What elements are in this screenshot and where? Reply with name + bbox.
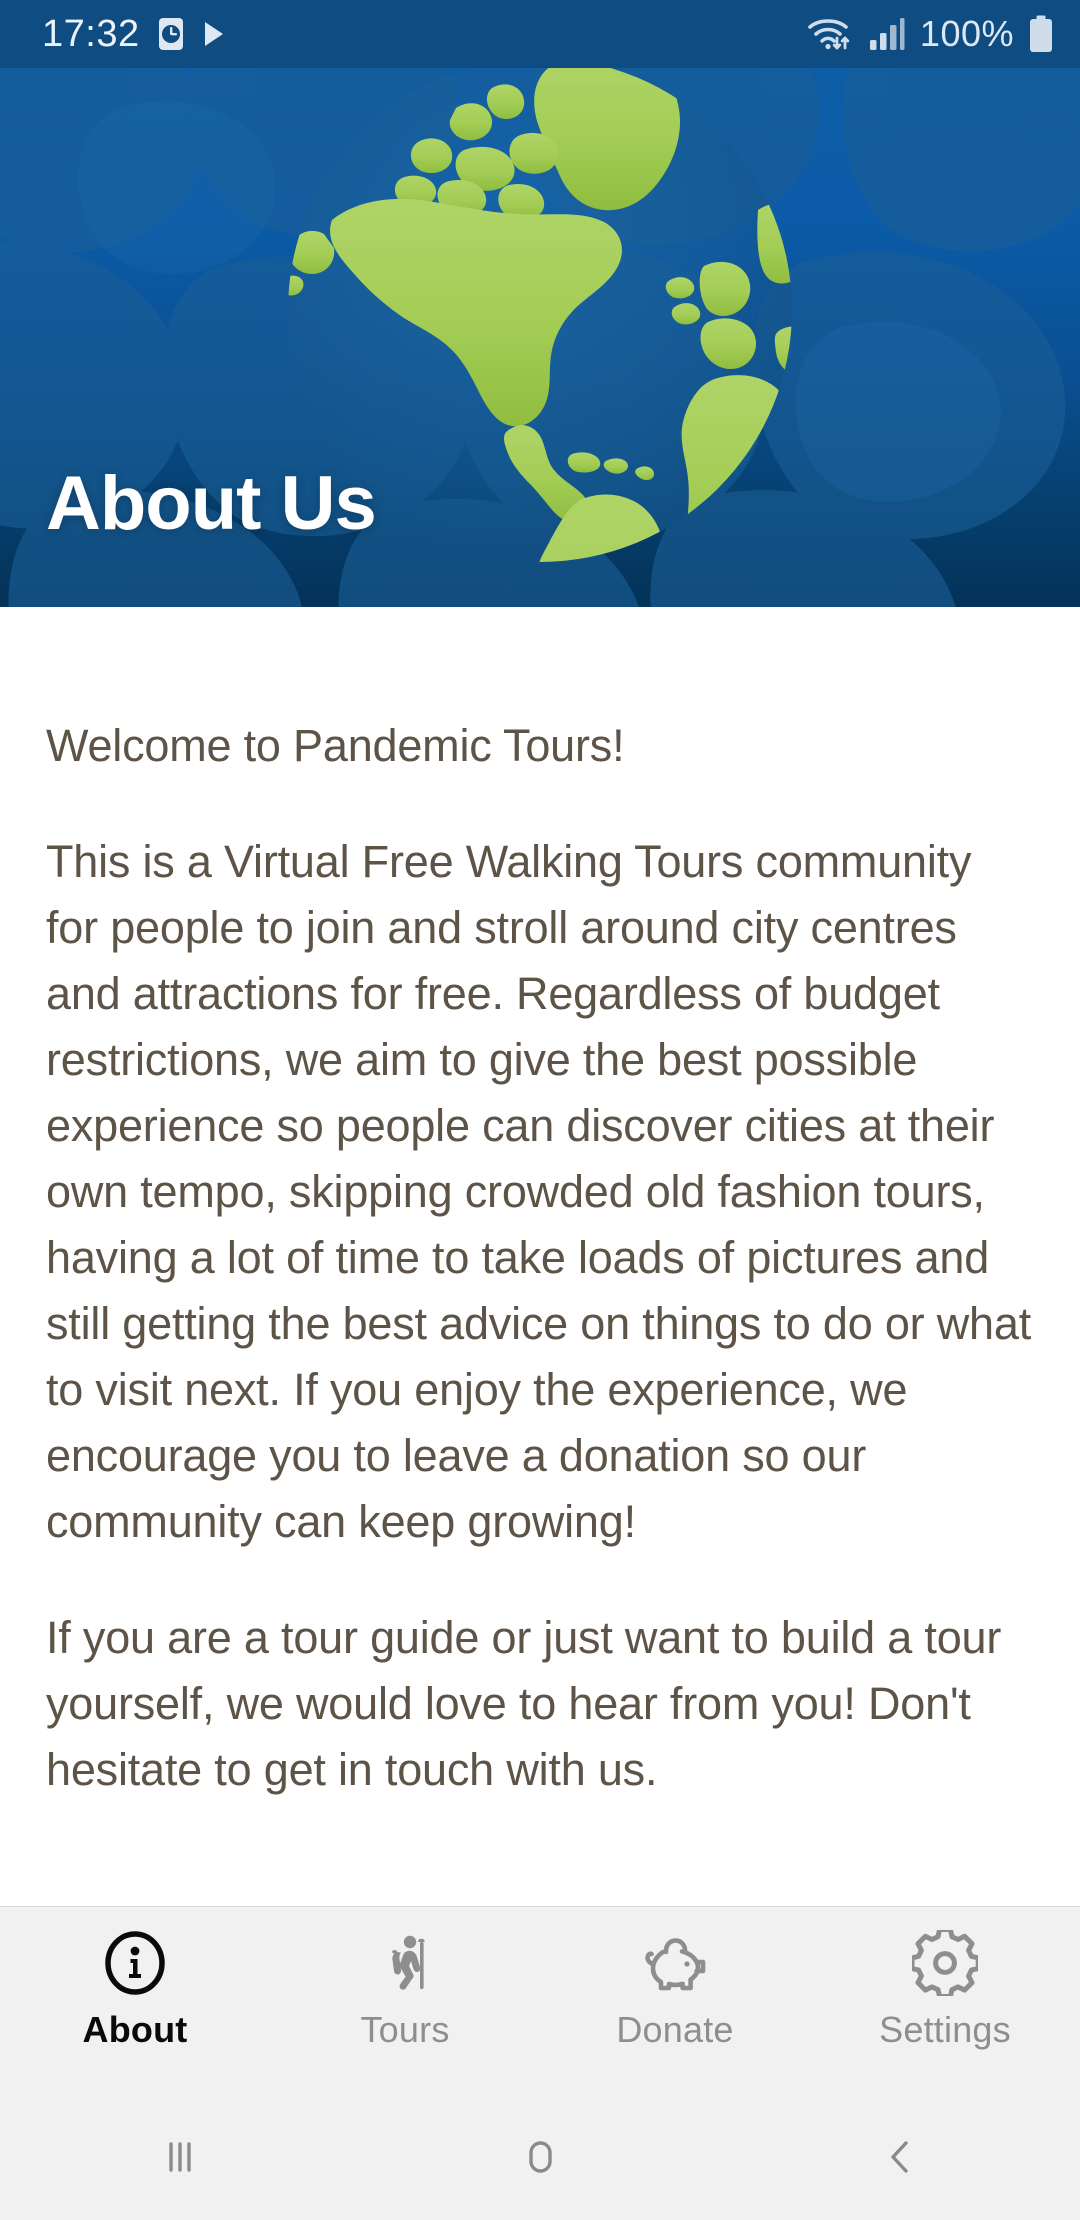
status-bar-left: 17:32 (42, 13, 226, 56)
gear-icon (909, 1927, 981, 1999)
home-button[interactable] (360, 2130, 720, 2189)
cellular-signal-icon (868, 16, 906, 52)
recents-button[interactable] (0, 2130, 360, 2189)
header-banner: About Us (0, 68, 1080, 607)
tab-donate-label: Donate (616, 2009, 733, 2051)
battery-percent-label: 100% (920, 13, 1014, 55)
tab-about-label: About (83, 2009, 188, 2051)
back-chevron-icon (873, 2130, 927, 2189)
battery-icon (1028, 15, 1054, 53)
page-title: About Us (46, 460, 376, 547)
back-button[interactable] (720, 2130, 1080, 2189)
android-navigation-bar (0, 2098, 1080, 2220)
tab-donate[interactable]: Donate (540, 1927, 810, 2051)
status-bar: 17:32 (0, 0, 1080, 68)
about-paragraph-contact: If you are a tour guide or just want to … (46, 1605, 1034, 1803)
play-triangle-icon (202, 20, 226, 48)
home-rounded-square-icon (513, 2130, 567, 2189)
about-content: Welcome to Pandemic Tours! This is a Vir… (0, 607, 1080, 1906)
alarm-clock-icon (156, 17, 186, 51)
hiker-icon (369, 1927, 441, 1999)
bottom-tab-bar: About Tours (0, 1906, 1080, 2098)
tab-about[interactable]: About (0, 1927, 270, 2051)
tab-settings-label: Settings (879, 2009, 1011, 2051)
tab-tours[interactable]: Tours (270, 1927, 540, 2051)
info-circle-icon (99, 1927, 171, 1999)
tab-tours-label: Tours (360, 2009, 449, 2051)
status-bar-right: 100% (806, 13, 1054, 55)
about-paragraph-welcome: Welcome to Pandemic Tours! (46, 713, 1034, 779)
recents-bars-icon (153, 2130, 207, 2189)
wifi-icon (806, 14, 854, 54)
about-paragraph-community: This is a Virtual Free Walking Tours com… (46, 829, 1034, 1555)
status-clock: 17:32 (42, 13, 140, 56)
app-screen: 17:32 (0, 0, 1080, 2220)
tab-settings[interactable]: Settings (810, 1927, 1080, 2051)
piggy-bank-icon (639, 1927, 711, 1999)
